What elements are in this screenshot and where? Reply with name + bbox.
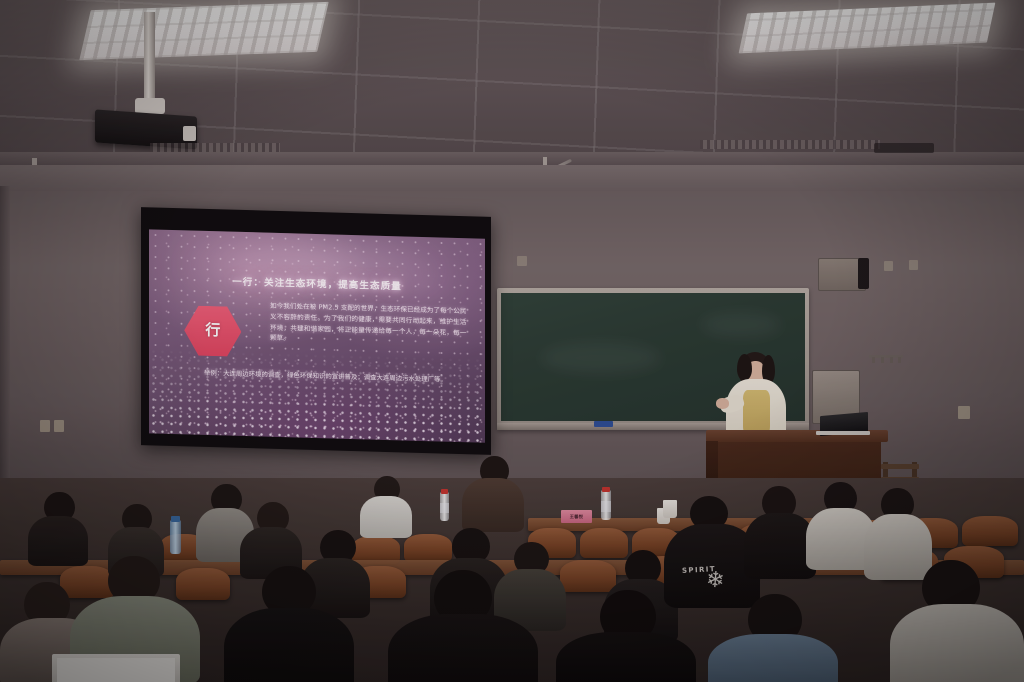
presenter-hair-side-left [737,354,752,380]
wall-plate-right-1 [884,261,893,271]
audience-torso [462,478,524,532]
wall-outlet-left-1 [40,420,50,432]
foreground-laptop[interactable] [52,654,180,682]
bottle-cap-1 [441,489,448,494]
laptop-display [57,658,175,682]
audience-member-fg4 [388,570,538,682]
wall-outlet-right [958,406,970,419]
audience-member-fg6 [708,594,838,682]
snowflake-icon: ❄ [705,567,725,593]
lecture-hall-photo: 一行：关注生态环境，提高生态质量 行 如今我们处在被 PM2.5 支配的世界，生… [0,0,1024,682]
ceiling-duct [874,143,934,153]
audience-torso [708,634,838,682]
bottle-cap-blue [171,516,180,522]
presenter-hand [716,398,729,409]
coat-hook-4 [898,357,901,363]
bottle-cap-2 [602,487,610,492]
wall-plate-right-2 [909,260,918,270]
wall-plate-center [517,256,527,266]
name-card-label: 王馨悦 [570,514,583,520]
chair-slat-1 [881,464,919,469]
wall-upper-band [0,165,1024,191]
coat-hook-3 [890,357,893,363]
presentation-slide: 一行：关注生态环境，提高生态质量 行 如今我们处在被 PM2.5 支配的世界，生… [149,229,485,442]
presenter [722,352,792,442]
audience-member-b4 [240,502,302,574]
name-card: 王馨悦 [561,510,592,523]
ceiling-vent-right [700,140,880,149]
badge-label: 行 [205,323,220,338]
ceiling-light-panel-left [79,2,328,60]
chalkboard-eraser [594,421,613,427]
projector-lens [183,126,196,141]
seat-far-9 [962,516,1018,546]
audience-torso [556,632,696,682]
audience-member-fg3 [224,566,354,682]
wall-sensor [858,258,869,289]
chalk-smudge-2 [701,313,781,337]
bottle-label-1 [440,503,449,513]
slide-body-text: 如今我们处在被 PM2.5 支配的世界，生态环保已经成为了每个公民义不容辞的责任… [270,301,467,349]
audience-torso [388,614,538,682]
chalk-smudge-1 [541,343,661,373]
slide-badge: 行 [184,304,241,359]
projector-pole [144,12,155,104]
paper-cup-2 [663,500,677,518]
wall-outlet-left-2 [54,420,64,432]
audience-member-fg7 [890,560,1024,682]
audience-torso [224,608,354,682]
light-louver-left [79,2,328,60]
slide-sparkles-bottom [149,348,485,443]
bottle-label-2 [601,501,611,512]
wall-edge-left [0,186,10,486]
projection-screen: 一行：关注生态环境，提高生态质量 行 如今我们处在被 PM2.5 支配的世界，生… [141,207,491,455]
podium-laptop-base [816,431,870,435]
audience-member-a1 [360,476,412,534]
coat-hook-1 [872,357,875,363]
ceiling-vent-left [150,143,280,152]
hexagon-icon: 行 [184,304,241,359]
audience-member-a2 [462,456,524,530]
audience-torso [890,604,1024,682]
coat-hook-2 [881,357,884,363]
audience-member-b1 [28,492,88,562]
water-bottle-blue [170,520,181,554]
audience-member-fg5 [556,590,696,682]
